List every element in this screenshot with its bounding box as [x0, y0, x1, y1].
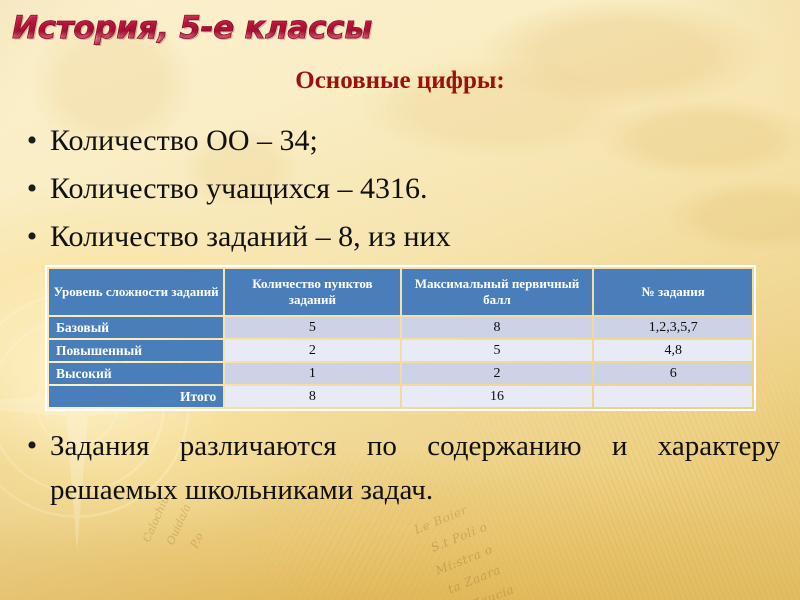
slide-title: История, 5-е классы: [12, 9, 372, 47]
row-label-total: Итого: [49, 386, 223, 407]
column-header-task-numbers: № задания: [594, 269, 752, 315]
table-row: Высокий 1 2 6: [49, 363, 752, 384]
cell-score-high: 2: [402, 363, 593, 384]
cell-numbers-basic: 1,2,3,5,7: [594, 317, 752, 338]
slide-content: История, 5-е классы Основные цифры: • Ко…: [0, 0, 800, 600]
cell-score-total: 16: [402, 386, 593, 407]
cell-count-basic: 5: [225, 317, 399, 338]
row-label-advanced: Повышенный: [49, 340, 223, 361]
table-row-total: Итого 8 16: [49, 386, 752, 407]
list-item: • Количество заданий – 8, из них: [14, 214, 784, 262]
closing-paragraph-text: Задания различаются по содержанию и хара…: [50, 424, 786, 512]
bullet-point-icon: •: [14, 166, 50, 212]
section-heading: Основные цифры:: [0, 66, 800, 96]
bullet-text-organizations: Количество ОО – 34;: [50, 118, 784, 164]
list-item: • Количество ОО – 34;: [14, 118, 784, 166]
task-difficulty-table: Уровень сложности заданий Количество пун…: [45, 265, 756, 411]
bullet-point-icon: •: [14, 424, 50, 468]
bullet-point-icon: •: [14, 214, 50, 260]
list-item: • Количество учащихся – 4316.: [14, 166, 784, 214]
cell-numbers-advanced: 4,8: [594, 340, 752, 361]
column-header-task-item-count: Количество пунктов заданий: [225, 269, 399, 315]
cell-count-total: 8: [225, 386, 399, 407]
cell-numbers-total: [594, 386, 752, 407]
presentation-slide: Le Boier S.t Poli o Mi:stra o ta Zaara o…: [0, 0, 800, 600]
table-row: Повышенный 2 5 4,8: [49, 340, 752, 361]
bullet-point-icon: •: [14, 118, 50, 164]
bullet-text-students: Количество учащихся – 4316.: [50, 166, 784, 212]
row-label-basic: Базовый: [49, 317, 223, 338]
column-header-difficulty-level: Уровень сложности заданий: [49, 269, 223, 315]
bullet-text-tasks: Количество заданий – 8, из них: [50, 214, 784, 260]
cell-score-basic: 8: [402, 317, 593, 338]
bullet-list: • Количество ОО – 34; • Количество учащи…: [14, 118, 784, 262]
row-label-high: Высокий: [49, 363, 223, 384]
table-header-row: Уровень сложности заданий Количество пун…: [49, 269, 752, 315]
table-row: Базовый 5 8 1,2,3,5,7: [49, 317, 752, 338]
closing-statement: • Задания различаются по содержанию и ха…: [14, 424, 786, 512]
cell-score-advanced: 5: [402, 340, 593, 361]
column-header-max-primary-score: Максимальный первичный балл: [402, 269, 593, 315]
cell-numbers-high: 6: [594, 363, 752, 384]
cell-count-high: 1: [225, 363, 399, 384]
cell-count-advanced: 2: [225, 340, 399, 361]
